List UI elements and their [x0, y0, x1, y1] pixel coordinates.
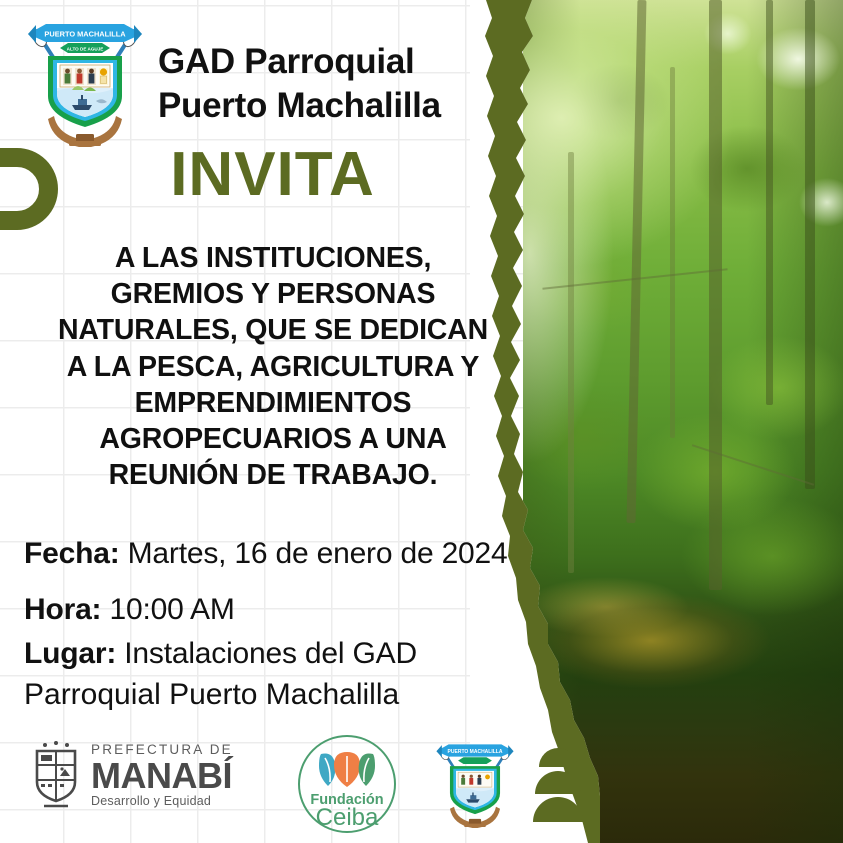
- lugar-value: Instalaciones del GAD: [124, 637, 417, 670]
- svg-text:PUERTO MACHALILLA: PUERTO MACHALILLA: [448, 749, 503, 755]
- headline-invita: INVITA: [0, 144, 545, 206]
- body-line: A LA PESCA, AGRICULTURA Y: [28, 349, 518, 385]
- prefectura-main-label: MANABÍ: [91, 758, 233, 794]
- detail-row-hora: Hora: 10:00 AM: [24, 588, 554, 632]
- ceiba-label-line2: Ceiba: [316, 804, 379, 831]
- body-line: REUNIÓN DE TRABAJO.: [28, 457, 518, 493]
- detail-row-lugar: Lugar: Instalaciones del GAD: [24, 632, 554, 676]
- fecha-value: Martes, 16 de enero de 2024: [128, 537, 508, 570]
- body-line: NATURALES, QUE SE DEDICAN: [28, 312, 518, 348]
- tree-trunk: [626, 0, 646, 523]
- crest-banner-text: PUERTO MACHALILLA: [44, 30, 126, 39]
- tree-trunk: [766, 0, 773, 405]
- hora-value: 10:00 AM: [109, 593, 234, 626]
- ceiba-leaf-icons: [319, 752, 375, 787]
- logo-prefectura-manabi: PREFECTURA DE MANABÍ Desarrollo y Equida…: [32, 740, 233, 810]
- prefectura-text: PREFECTURA DE MANABÍ Desarrollo y Equida…: [91, 743, 233, 808]
- invitation-body-text: A LAS INSTITUCIONES, GREMIOS Y PERSONAS …: [28, 240, 518, 493]
- body-line: A LAS INSTITUCIONES,: [28, 240, 518, 276]
- event-details: Fecha: Martes, 16 de enero de 2024 Hora:…: [24, 532, 554, 713]
- detail-row-fecha: Fecha: Martes, 16 de enero de 2024: [24, 532, 554, 576]
- org-title-line2: Puerto Machalilla: [158, 84, 441, 128]
- body-line: AGROPECUARIOS A UNA: [28, 421, 518, 457]
- body-line: GREMIOS Y PERSONAS: [28, 276, 518, 312]
- invitation-poster: PUERTO MACHALILLA ALTO DE AGUJE: [0, 0, 843, 843]
- coat-of-arms-icon-small: PUERTO MACHALILLA: [431, 736, 519, 828]
- logo-fundacion-ceiba: Fundación Ceiba: [295, 732, 399, 836]
- poster-content: PUERTO MACHALILLA ALTO DE AGUJE: [0, 0, 560, 843]
- org-title-line1: GAD Parroquial: [158, 42, 414, 81]
- prefectura-top-label: PREFECTURA DE: [91, 743, 233, 757]
- tree-trunk: [805, 0, 815, 489]
- poster-header: PUERTO MACHALILLA ALTO DE AGUJE: [20, 12, 530, 147]
- lugar-value-line2: Parroquial Puerto Machalilla: [24, 676, 554, 714]
- organization-title: GAD Parroquial Puerto Machalilla: [158, 40, 441, 128]
- prefectura-shield-icon: [32, 740, 80, 810]
- fecha-label: Fecha:: [24, 537, 120, 570]
- prefectura-sub-label: Desarrollo y Equidad: [91, 795, 233, 808]
- lugar-label: Lugar:: [24, 637, 116, 670]
- coat-of-arms-icon: PUERTO MACHALILLA ALTO DE AGUJE: [20, 12, 150, 147]
- footer-logos: PREFECTURA DE MANABÍ Desarrollo y Equida…: [18, 726, 578, 836]
- tree-trunk: [670, 67, 675, 438]
- tree-trunk: [709, 0, 722, 590]
- svg-text:ALTO DE AGUJE: ALTO DE AGUJE: [67, 47, 104, 52]
- tree-icon: [527, 736, 589, 828]
- body-line: EMPRENDIMIENTOS: [28, 385, 518, 421]
- hora-label: Hora:: [24, 593, 101, 626]
